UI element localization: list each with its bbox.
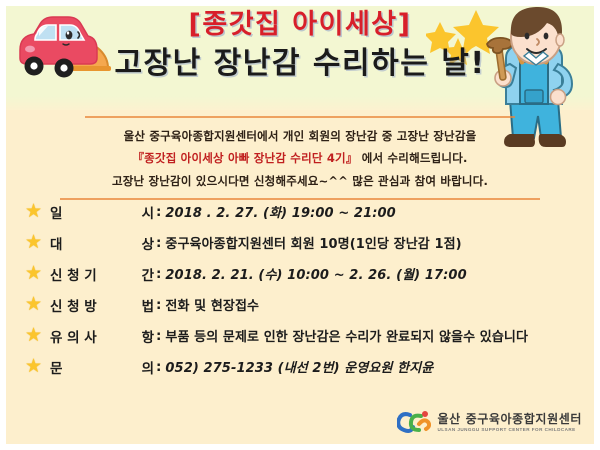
description-line-2-tail: 에서 수리해드립니다. bbox=[358, 151, 468, 165]
detail-separator-application-method: : bbox=[154, 297, 165, 313]
description-text-group: 울산 중구육아종합지원센터에서 개인 회원의 장난감 중 고장난 장난감을 『종… bbox=[6, 118, 594, 198]
description-line-3: 고장난 장난감이 있으시다면 신청해주세요~^^ 많은 관심과 참여 바랍니다. bbox=[6, 170, 594, 192]
detail-row-application-period: ★ 신 청 기 간 : 2018. 2. 21. (수) 10:00 ~ 2. … bbox=[24, 258, 594, 289]
detail-value-contact: 052) 275-1233 (내선 2번) 운영요원 한지윤 bbox=[165, 357, 433, 376]
detail-separator-notice: : bbox=[154, 328, 165, 344]
footer-logo-text: 울산 중구육아종합지원센터 ULSAN JUNGGU SUPPORT CENTE… bbox=[438, 413, 582, 432]
description-divider-top bbox=[85, 116, 515, 118]
detail-label-date-left: 일 bbox=[50, 202, 62, 222]
detail-label-application-method-left: 신 청 방 bbox=[50, 295, 97, 315]
detail-separator-application-period: : bbox=[154, 266, 165, 282]
detail-label-target-right: 상 bbox=[142, 233, 154, 253]
detail-separator-contact: : bbox=[154, 359, 165, 375]
star-bullet-icon: ★ bbox=[24, 233, 43, 252]
star-bullet-icon: ★ bbox=[24, 202, 43, 221]
description-line-2: 『종갓집 아이세상 아빠 장난감 수리단 4기』 에서 수리해드립니다. bbox=[6, 147, 594, 169]
star-bullet-icon: ★ bbox=[24, 295, 43, 314]
detail-separator-date: : bbox=[154, 204, 165, 220]
detail-row-application-method: ★ 신 청 방 법 : 전화 및 현장접수 bbox=[24, 289, 594, 320]
footer-organization-kr: 울산 중구육아종합지원센터 bbox=[438, 413, 582, 425]
detail-label-contact-left: 문 bbox=[50, 357, 62, 377]
title-line-1: [종갓집 아이세상] bbox=[0, 8, 600, 42]
detail-row-date: ★ 일 시 : 2018 . 2. 27. (화) 19:00 ~ 21:00 bbox=[24, 196, 594, 227]
detail-value-notice: 부품 등의 문제로 인한 장난감은 수리가 완료되지 않을수 있습니다 bbox=[165, 326, 528, 345]
description-program-name: 『종갓집 아이세상 아빠 장난감 수리단 4기』 bbox=[132, 151, 357, 165]
detail-label-application-method-right: 법 bbox=[142, 295, 154, 315]
detail-label-contact: 문 의 bbox=[50, 357, 154, 377]
detail-label-date: 일 시 bbox=[50, 202, 154, 222]
detail-label-contact-right: 의 bbox=[142, 357, 154, 377]
star-bullet-icon: ★ bbox=[24, 326, 43, 345]
sc-swoosh-logo-icon bbox=[397, 410, 431, 436]
poster-title: [종갓집 아이세상] 고장난 장난감 수리하는 날! bbox=[0, 8, 600, 83]
detail-separator-target: : bbox=[154, 235, 165, 251]
description-block: 울산 중구육아종합지원센터에서 개인 회원의 장난감 중 고장난 장난감을 『종… bbox=[6, 116, 594, 200]
detail-row-notice: ★ 유 의 사 항 : 부품 등의 문제로 인한 장난감은 수리가 완료되지 않… bbox=[24, 320, 594, 351]
detail-value-application-period: 2018. 2. 21. (수) 10:00 ~ 2. 26. (월) 17:0… bbox=[165, 264, 466, 283]
poster-canvas: [종갓집 아이세상] 고장난 장난감 수리하는 날! 울산 중구육아종합지원센터… bbox=[0, 0, 600, 450]
detail-label-application-period-left: 신 청 기 bbox=[50, 264, 97, 284]
detail-rows: ★ 일 시 : 2018 . 2. 27. (화) 19:00 ~ 21:00 … bbox=[6, 196, 594, 382]
detail-label-notice-right: 항 bbox=[142, 326, 154, 346]
title-line-2: 고장난 장난감 수리하는 날! bbox=[0, 44, 600, 83]
detail-label-application-method: 신 청 방 법 bbox=[50, 295, 154, 315]
detail-label-target: 대 상 bbox=[50, 233, 154, 253]
detail-label-notice: 유 의 사 항 bbox=[50, 326, 154, 346]
footer-organization-logo: 울산 중구육아종합지원센터 ULSAN JUNGGU SUPPORT CENTE… bbox=[397, 410, 582, 436]
detail-value-date: 2018 . 2. 27. (화) 19:00 ~ 21:00 bbox=[165, 202, 395, 221]
detail-row-target: ★ 대 상 : 중구육아종합지원센터 회원 10명(1인당 장난감 1점) bbox=[24, 227, 594, 258]
star-bullet-icon: ★ bbox=[24, 264, 43, 283]
detail-value-application-method: 전화 및 현장접수 bbox=[165, 295, 259, 314]
detail-row-contact: ★ 문 의 : 052) 275-1233 (내선 2번) 운영요원 한지윤 bbox=[24, 351, 594, 382]
star-bullet-icon: ★ bbox=[24, 357, 43, 376]
detail-label-notice-left: 유 의 사 bbox=[50, 326, 97, 346]
detail-label-date-right: 시 bbox=[142, 202, 154, 222]
description-line-1: 울산 중구육아종합지원센터에서 개인 회원의 장난감 중 고장난 장난감을 bbox=[6, 125, 594, 147]
footer-organization-en: ULSAN JUNGGU SUPPORT CENTER FOR CHILDCAR… bbox=[438, 428, 582, 433]
detail-label-target-left: 대 bbox=[50, 233, 62, 253]
detail-value-target: 중구육아종합지원센터 회원 10명(1인당 장난감 1점) bbox=[165, 233, 461, 252]
detail-label-application-period: 신 청 기 간 bbox=[50, 264, 154, 284]
detail-label-application-period-right: 간 bbox=[142, 264, 154, 284]
